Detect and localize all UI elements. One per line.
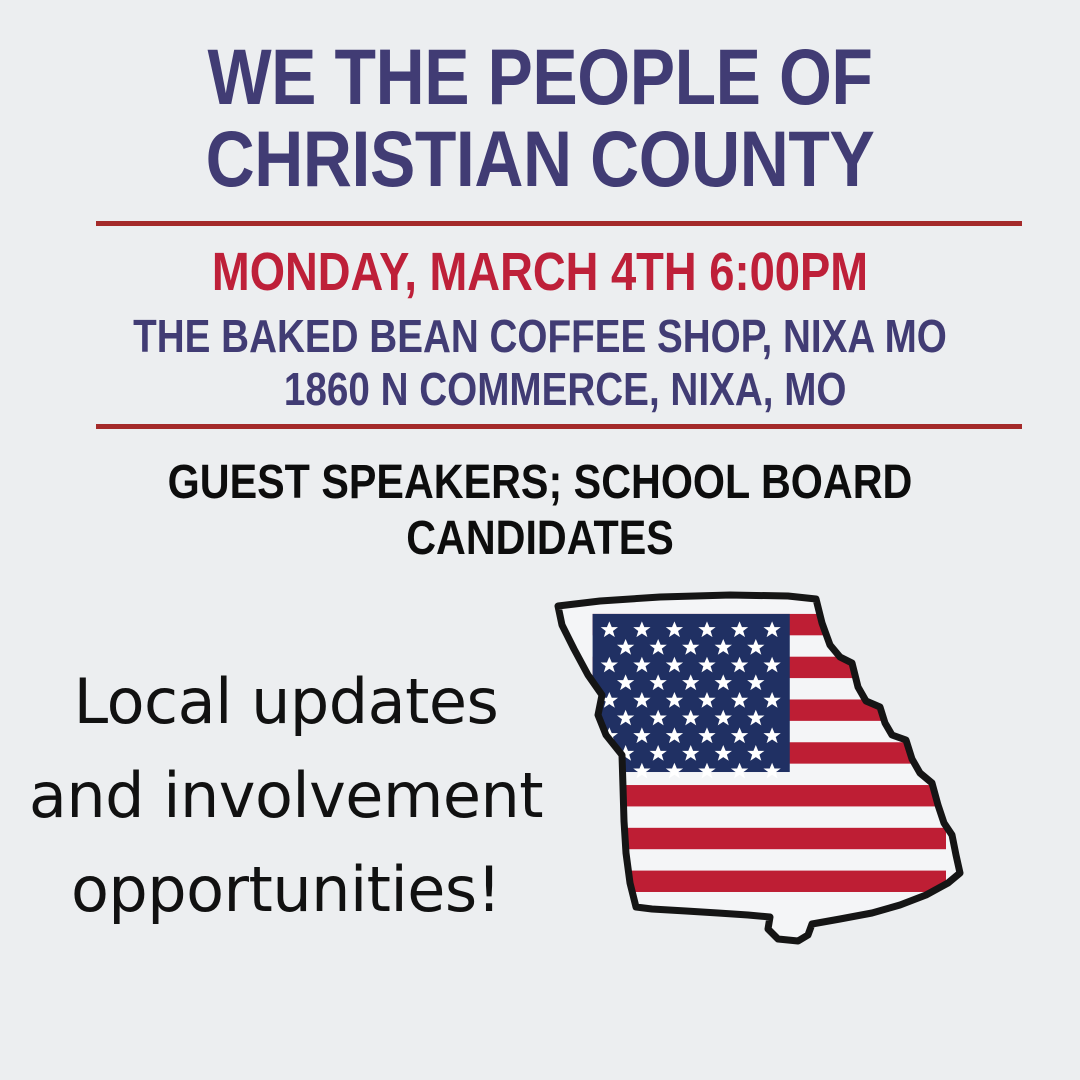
event-date-time: MONDAY, MARCH 4TH 6:00PM	[86, 243, 993, 301]
missouri-flag-map-icon	[540, 583, 980, 948]
speakers-line-2: CANDIDATES	[76, 511, 1005, 567]
tagline-line-3: opportunities!	[12, 843, 560, 937]
event-flyer: WE THE PEOPLE OF CHRISTIAN COUNTY MONDAY…	[0, 0, 1080, 1080]
tagline: Local updates and involvement opportunit…	[12, 655, 560, 937]
tagline-line-1: Local updates	[12, 655, 560, 749]
headline-line-1: WE THE PEOPLE OF	[76, 36, 1005, 118]
headline-line-2: CHRISTIAN COUNTY	[76, 118, 1005, 200]
guest-speakers-note: GUEST SPEAKERS; SCHOOL BOARD CANDIDATES	[76, 455, 1005, 567]
event-venue: THE BAKED BEAN COFFEE SHOP, NIXA MO	[86, 311, 993, 361]
page-title: WE THE PEOPLE OF CHRISTIAN COUNTY	[76, 36, 1005, 200]
event-address: 1860 N COMMERCE, NIXA, MO	[86, 364, 993, 414]
speakers-line-1: GUEST SPEAKERS; SCHOOL BOARD	[76, 455, 1005, 511]
divider-top	[96, 221, 1022, 226]
divider-bottom	[96, 424, 1022, 429]
tagline-line-2: and involvement	[12, 749, 560, 843]
flag-fill-group	[593, 614, 946, 893]
